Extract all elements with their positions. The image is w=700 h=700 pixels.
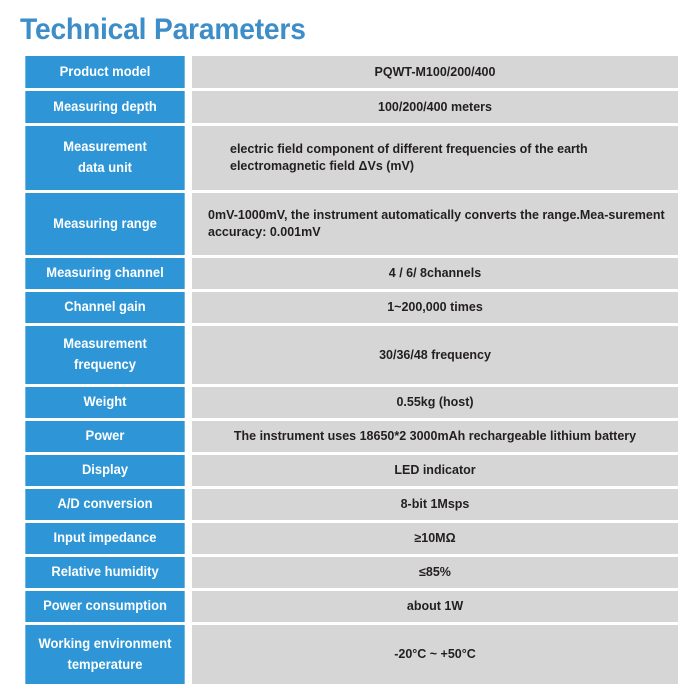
parameter-label: Working environment temperature [25,625,184,684]
parameter-label: Product model [25,56,184,88]
table-row: Display LED indicator [22,455,678,486]
parameter-value: PQWT-M100/200/400 [192,56,678,88]
table-row: Measuring range 0mV-1000mV, the instrume… [22,193,678,255]
table-row: Measuring depth 100/200/400 meters [22,91,678,123]
parameter-value: ≤85% [192,557,678,588]
table-row: Measurement frequency 30/36/48 frequency [22,326,678,384]
table-row: Input impedance ≥10MΩ [22,523,678,554]
table-row: Measuring channel 4 / 6/ 8channels [22,258,678,289]
page-title: Technical Parameters [20,13,306,47]
parameter-label: Measuring channel [25,258,184,289]
parameter-label: Relative humidity [25,557,184,588]
table-row: Weight 0.55kg (host) [22,387,678,418]
technical-parameters-page: Technical Parameters Product model PQWT-… [0,0,700,700]
parameter-value: about 1W [192,591,678,622]
table-row: A/D conversion 8-bit 1Msps [22,489,678,520]
parameter-value: 100/200/400 meters [192,91,678,123]
table-row: Relative humidity ≤85% [22,557,678,588]
parameter-value: 0mV-1000mV, the instrument automatically… [192,193,678,255]
parameter-label: Input impedance [25,523,184,554]
parameter-value: LED indicator [192,455,678,486]
technical-parameters-table: Product model PQWT-M100/200/400 Measurin… [22,56,678,684]
parameter-label: Measuring depth [25,91,184,123]
parameter-label: Power consumption [25,591,184,622]
parameter-label: Weight [25,387,184,418]
parameter-value: 0.55kg (host) [192,387,678,418]
parameter-value: 8-bit 1Msps [192,489,678,520]
parameter-value: -20°C ~ +50°C [192,625,678,684]
parameter-label: Measurement frequency [25,326,184,384]
parameter-label: A/D conversion [25,489,184,520]
parameter-label: Display [25,455,184,486]
parameter-value: ≥10MΩ [192,523,678,554]
table-row: Channel gain 1~200,000 times [22,292,678,323]
parameter-value: The instrument uses 18650*2 3000mAh rech… [192,421,678,452]
table-row: Power consumption about 1W [22,591,678,622]
parameter-value: 30/36/48 frequency [192,326,678,384]
parameter-value: 4 / 6/ 8channels [192,258,678,289]
table-row: Product model PQWT-M100/200/400 [22,56,678,88]
table-row: Power The instrument uses 18650*2 3000mA… [22,421,678,452]
parameter-label: Measuring range [25,193,184,255]
parameter-value: 1~200,000 times [192,292,678,323]
parameter-label: Power [25,421,184,452]
table-row: Working environment temperature -20°C ~ … [22,625,678,684]
parameter-value: electric field component of different fr… [192,126,678,190]
parameter-label: Measurement data unit [25,126,184,190]
parameter-label: Channel gain [25,292,184,323]
table-row: Measurement data unit electric field com… [22,126,678,190]
